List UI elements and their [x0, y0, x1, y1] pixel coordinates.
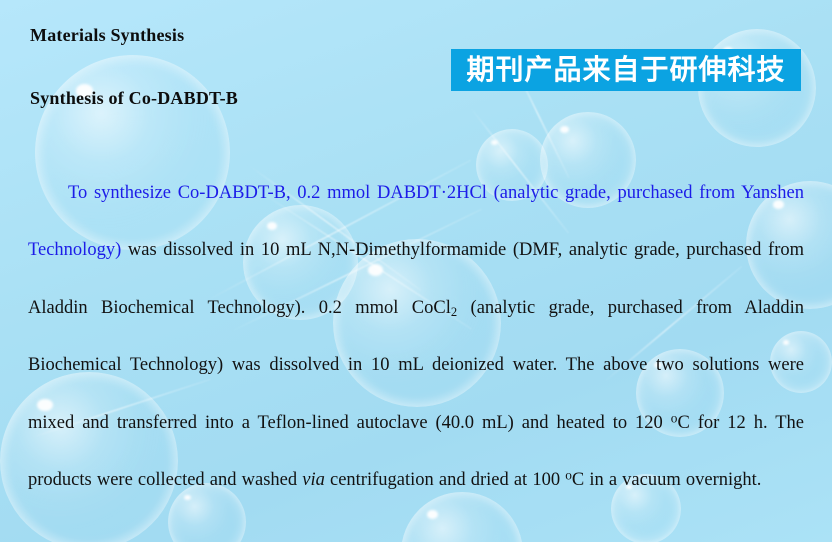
paragraph-segment-4: centrifugation and dried at 100	[325, 470, 565, 490]
paragraph-segment-5: C in a vacuum overnight.	[572, 470, 762, 490]
slide-canvas: 期刊产品来自于研伸科技 Materials Synthesis Synthesi…	[0, 0, 832, 542]
section-heading: Materials Synthesis	[30, 25, 184, 46]
synthesis-paragraph: To synthesize Co-DABDT-B, 0.2 mmol DABDT…	[28, 165, 804, 510]
degree-symbol-100: o	[565, 467, 572, 482]
italic-via: via	[302, 470, 325, 490]
subsection-heading: Synthesis of Co-DABDT-B	[30, 88, 238, 109]
chinese-watermark-banner: 期刊产品来自于研伸科技	[451, 49, 801, 91]
chinese-watermark-text: 期刊产品来自于研伸科技	[466, 56, 785, 84]
